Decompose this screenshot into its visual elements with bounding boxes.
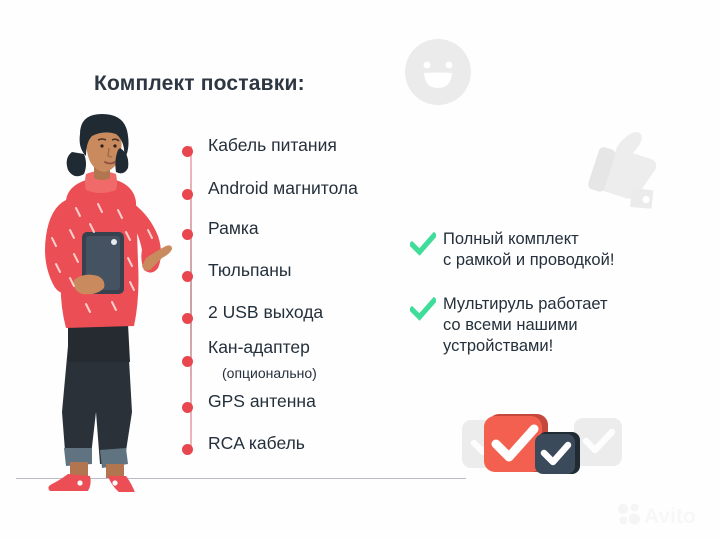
list-item-label: GPS антенна	[208, 391, 316, 412]
list-item-label: RCA кабель	[208, 433, 305, 454]
avito-watermark: Avito	[616, 500, 712, 528]
checkbox-cluster-icon	[462, 412, 622, 484]
promo-card: Комплект поставки: Кабель питания Androi…	[0, 0, 720, 540]
thumbs-up-icon	[578, 118, 670, 210]
feature-text: Полный комплект с рамкой и проводкой!	[443, 229, 614, 271]
list-item-label: Кан-адаптер	[208, 337, 310, 358]
list-item-label: 2 USB выхода	[208, 302, 323, 323]
green-check-icon	[410, 297, 436, 323]
list-item-label: Android магнитола	[208, 178, 358, 199]
list-item-label: Рамка	[208, 218, 259, 239]
list-item-label: Кабель питания	[208, 135, 337, 156]
page-title: Комплект поставки:	[94, 72, 305, 96]
woman-pointing-illustration	[12, 112, 184, 492]
green-check-icon	[410, 232, 436, 258]
smiley-face-icon	[404, 38, 472, 106]
list-item-label: Тюльпаны	[208, 260, 291, 281]
avito-wordmark: Avito	[644, 505, 696, 528]
feature-text: Мультируль работает со всеми нашими устр…	[443, 294, 608, 357]
list-item-sublabel: (опционально)	[222, 365, 317, 381]
